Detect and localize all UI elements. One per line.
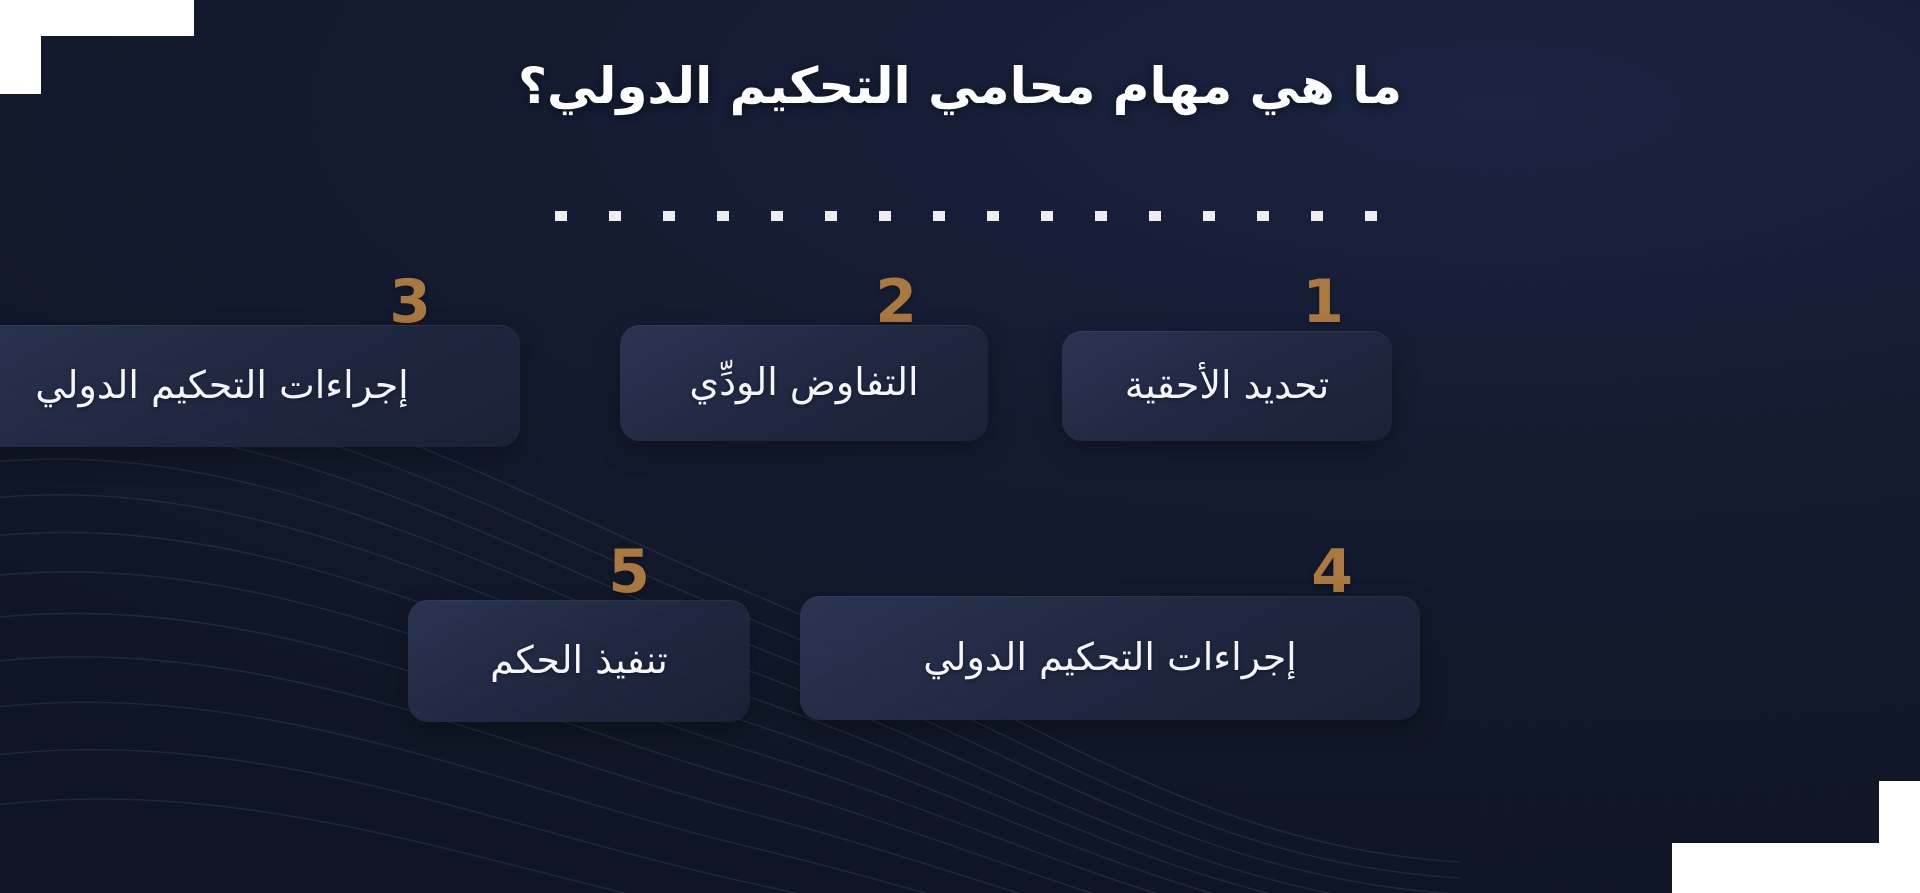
corner-bracket-top-left-horizontal [0,0,194,36]
background-wave-decoration [0,163,1460,893]
step-label-2: التفاوض الودِّي [689,359,918,407]
step-number-2: 2 [875,272,917,332]
step-number-4: 4 [1311,542,1353,602]
step-label-3: إجراءات التحكيم الدولي [35,362,409,410]
slide-title: ما هي مهام محامي التحكيم الدولي؟ [0,56,1920,116]
step-card-4[interactable]: إجراءات التحكيم الدولي [800,596,1420,720]
step-card-5[interactable]: تنفيذ الحكم [408,600,750,722]
dotted-divider [555,211,1415,221]
step-label-4: إجراءات التحكيم الدولي [923,634,1297,682]
corner-bracket-bottom-right-horizontal [1672,843,1920,893]
step-number-3: 3 [389,272,431,332]
step-label-1: تحديد الأحقية [1125,362,1329,410]
step-number-5: 5 [608,542,650,602]
step-card-2[interactable]: التفاوض الودِّي [620,325,988,441]
step-label-5: تنفيذ الحكم [490,637,668,685]
slide-canvas: ما هي مهام محامي التحكيم الدولي؟ 1 تحديد… [0,0,1920,893]
step-card-3[interactable]: إجراءات التحكيم الدولي [0,325,520,447]
step-card-1[interactable]: تحديد الأحقية [1062,331,1392,441]
step-number-1: 1 [1302,272,1344,332]
